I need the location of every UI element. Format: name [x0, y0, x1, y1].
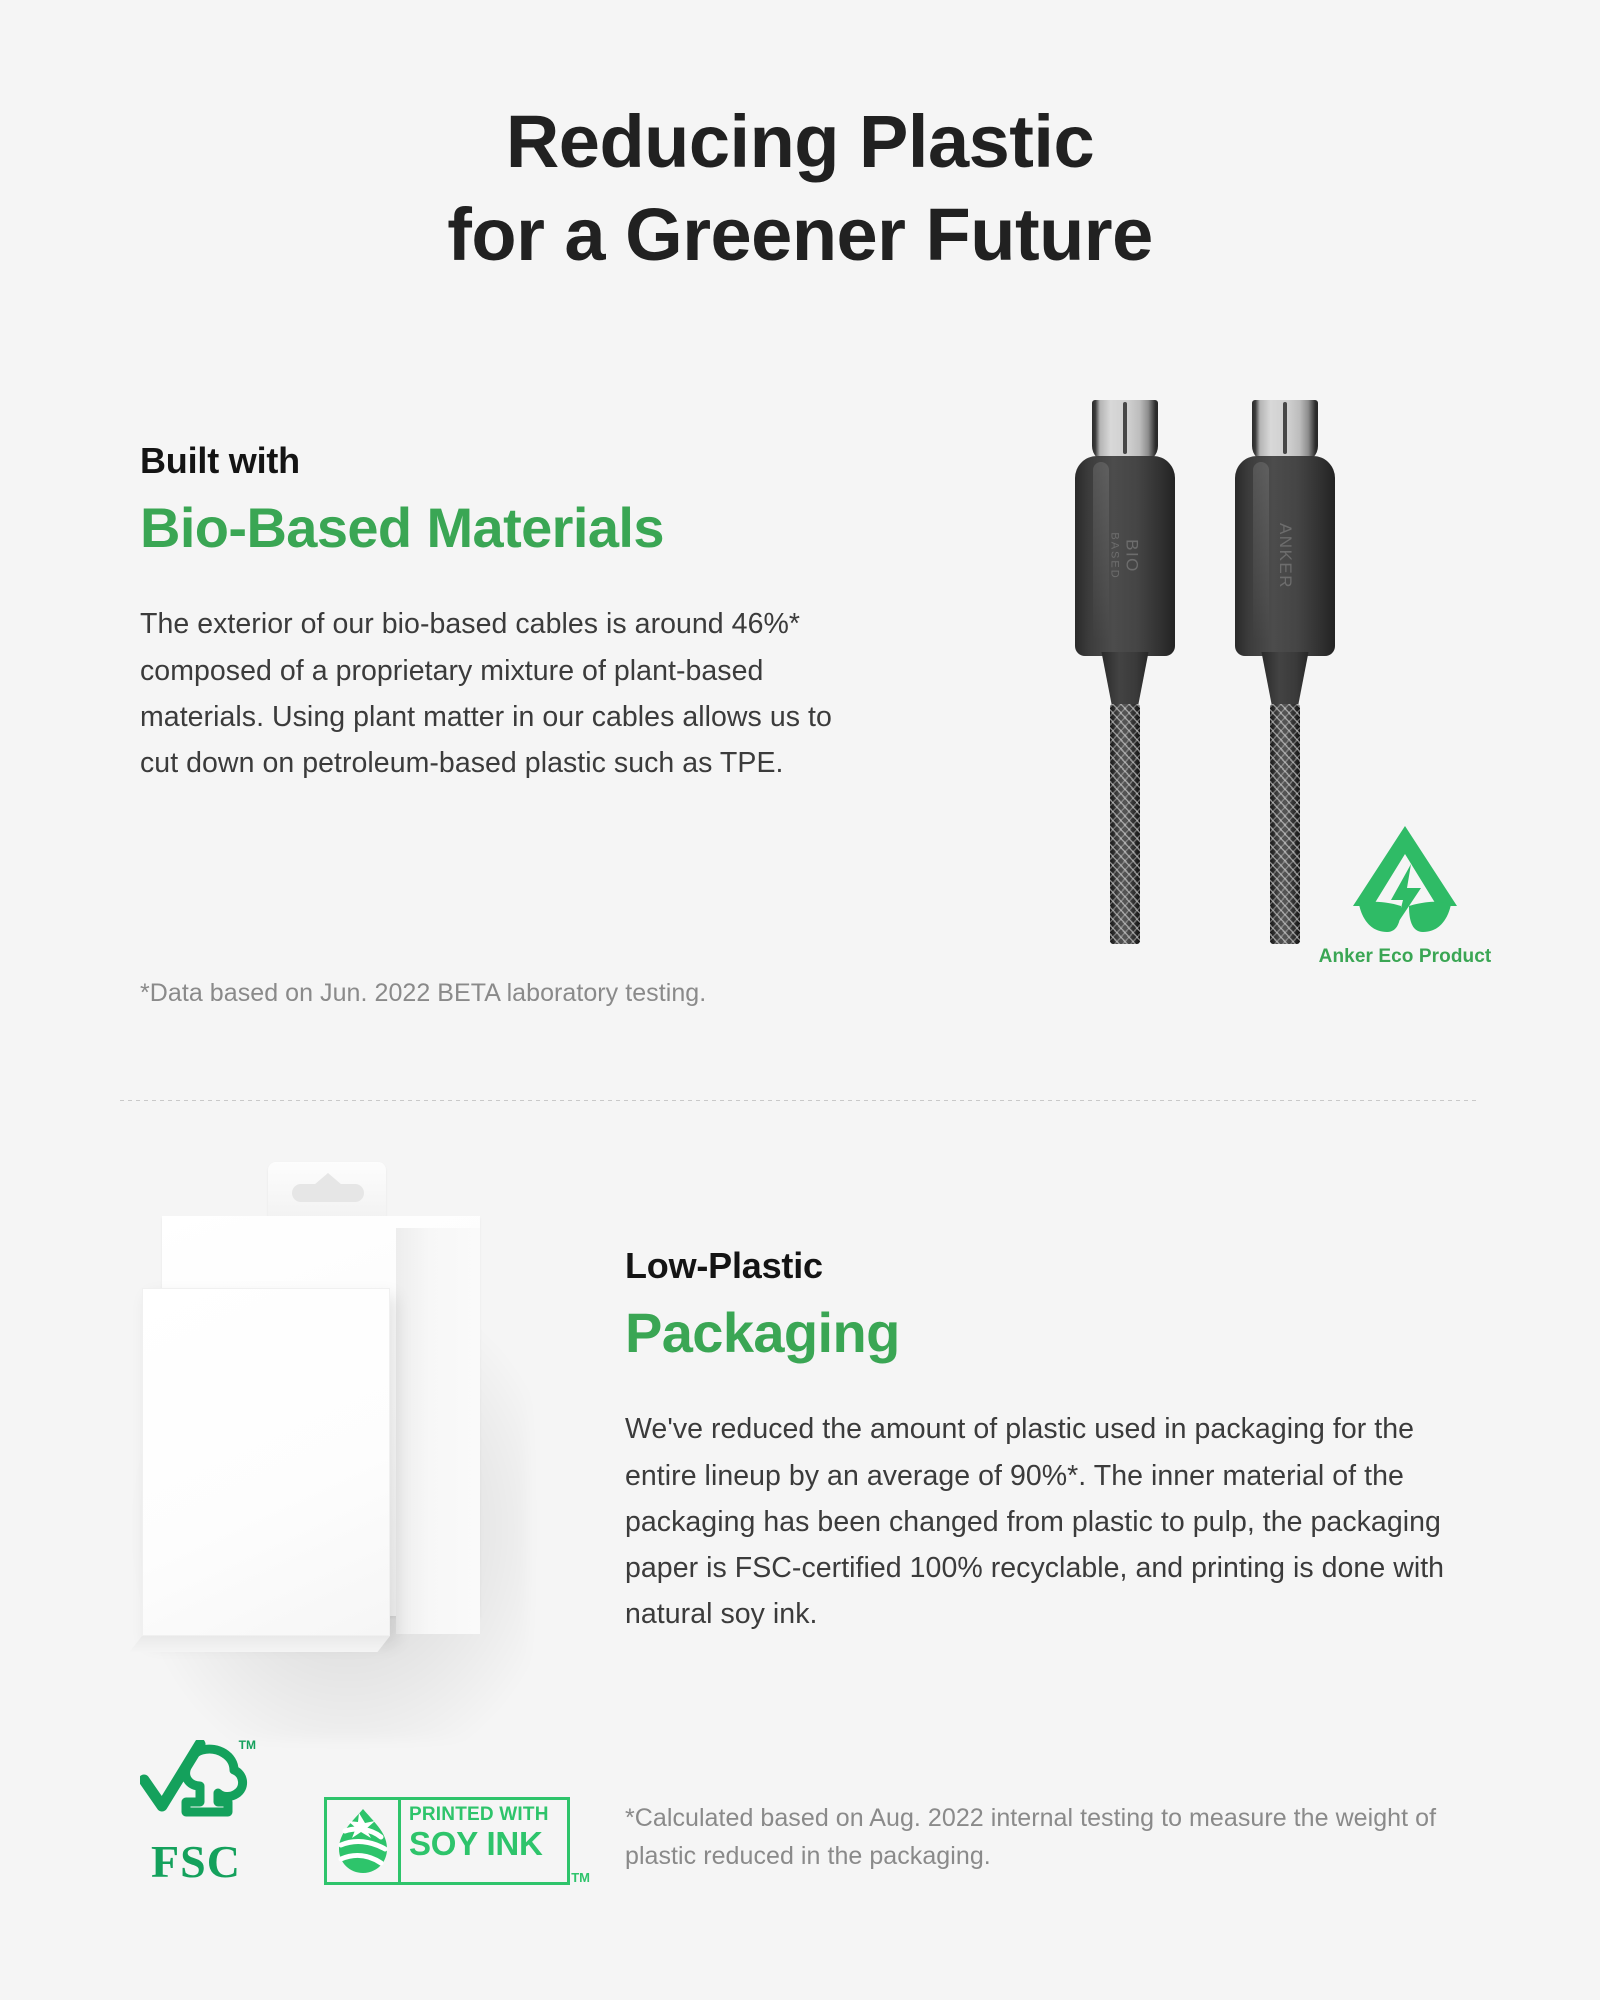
- plug-label-bio-main: BIO: [1123, 539, 1142, 573]
- cable-plug-bio: BIO BASED: [1070, 400, 1180, 944]
- bio-footnote: *Data based on Jun. 2022 BETA laboratory…: [140, 975, 940, 1013]
- fsc-certification-logo: TM FSC: [140, 1740, 252, 1885]
- anker-eco-leaf-bolt-icon: [1341, 820, 1469, 938]
- anker-eco-product-badge: Anker Eco Product: [1310, 820, 1500, 968]
- soy-ink-line-2: SOY INK: [409, 1827, 560, 1862]
- packaging-side-panel: [396, 1228, 480, 1634]
- bio-eyebrow: Built with: [140, 440, 860, 481]
- braided-cable-bio: [1110, 704, 1140, 944]
- plug-label-anker: ANKER: [1275, 523, 1295, 589]
- packaging-front-panel: [142, 1288, 390, 1636]
- braided-cable-anker: [1270, 704, 1300, 944]
- packaging-footnote-wrap: *Calculated based on Aug. 2022 internal …: [625, 1800, 1505, 1875]
- usb-c-tip-icon: [1092, 400, 1158, 462]
- packaging-front-edge: [129, 1636, 390, 1652]
- usb-c-tip-icon: [1252, 400, 1318, 462]
- fsc-label: FSC: [140, 1839, 252, 1885]
- bio-section-text: Built with Bio-Based Materials The exter…: [140, 440, 860, 786]
- plug-shell-anker: ANKER: [1235, 456, 1335, 656]
- packaging-footnote: *Calculated based on Aug. 2022 internal …: [625, 1800, 1505, 1875]
- plug-neck-bio: [1097, 652, 1153, 704]
- page-title: Reducing Plastic for a Greener Future: [0, 96, 1600, 281]
- packaging-body-text: We've reduced the amount of plastic used…: [625, 1406, 1465, 1637]
- packaging-hang-hole: [292, 1184, 364, 1202]
- soy-ink-line-1: PRINTED WITH: [409, 1805, 560, 1824]
- soy-ink-wordmark: PRINTED WITH SOY INK: [401, 1800, 567, 1882]
- soy-ink-droplet-icon: [327, 1800, 401, 1882]
- packaging-box-image: [120, 1150, 540, 1750]
- soy-ink-certification-logo: PRINTED WITH SOY INK TM: [324, 1797, 570, 1885]
- bio-headline: Bio-Based Materials: [140, 493, 860, 563]
- packaging-eyebrow: Low-Plastic: [625, 1245, 1465, 1286]
- fsc-trademark: TM: [239, 1738, 256, 1752]
- fsc-tree-check-icon: [140, 1740, 252, 1832]
- plug-shell-bio: BIO BASED: [1075, 456, 1175, 656]
- plug-label-bio: BIO BASED: [1109, 532, 1142, 579]
- packaging-headline: Packaging: [625, 1298, 1465, 1368]
- certification-logos: TM FSC PRINTED WITH: [140, 1740, 570, 1885]
- page-title-line-1: Reducing Plastic: [0, 96, 1600, 189]
- plug-neck-anker: [1257, 652, 1313, 704]
- soy-ink-box: PRINTED WITH SOY INK: [324, 1797, 570, 1885]
- section-divider: [120, 1100, 1480, 1101]
- packaging-section-text: Low-Plastic Packaging We've reduced the …: [625, 1245, 1465, 1637]
- plug-label-bio-sub: BASED: [1109, 532, 1121, 579]
- soy-ink-trademark: TM: [571, 1870, 590, 1885]
- anker-eco-product-label: Anker Eco Product: [1310, 946, 1500, 968]
- bio-footnote-wrap: *Data based on Jun. 2022 BETA laboratory…: [140, 975, 940, 1013]
- bio-body-text: The exterior of our bio-based cables is …: [140, 601, 860, 786]
- infographic-page: Reducing Plastic for a Greener Future Bu…: [0, 0, 1600, 2000]
- page-title-line-2: for a Greener Future: [0, 189, 1600, 282]
